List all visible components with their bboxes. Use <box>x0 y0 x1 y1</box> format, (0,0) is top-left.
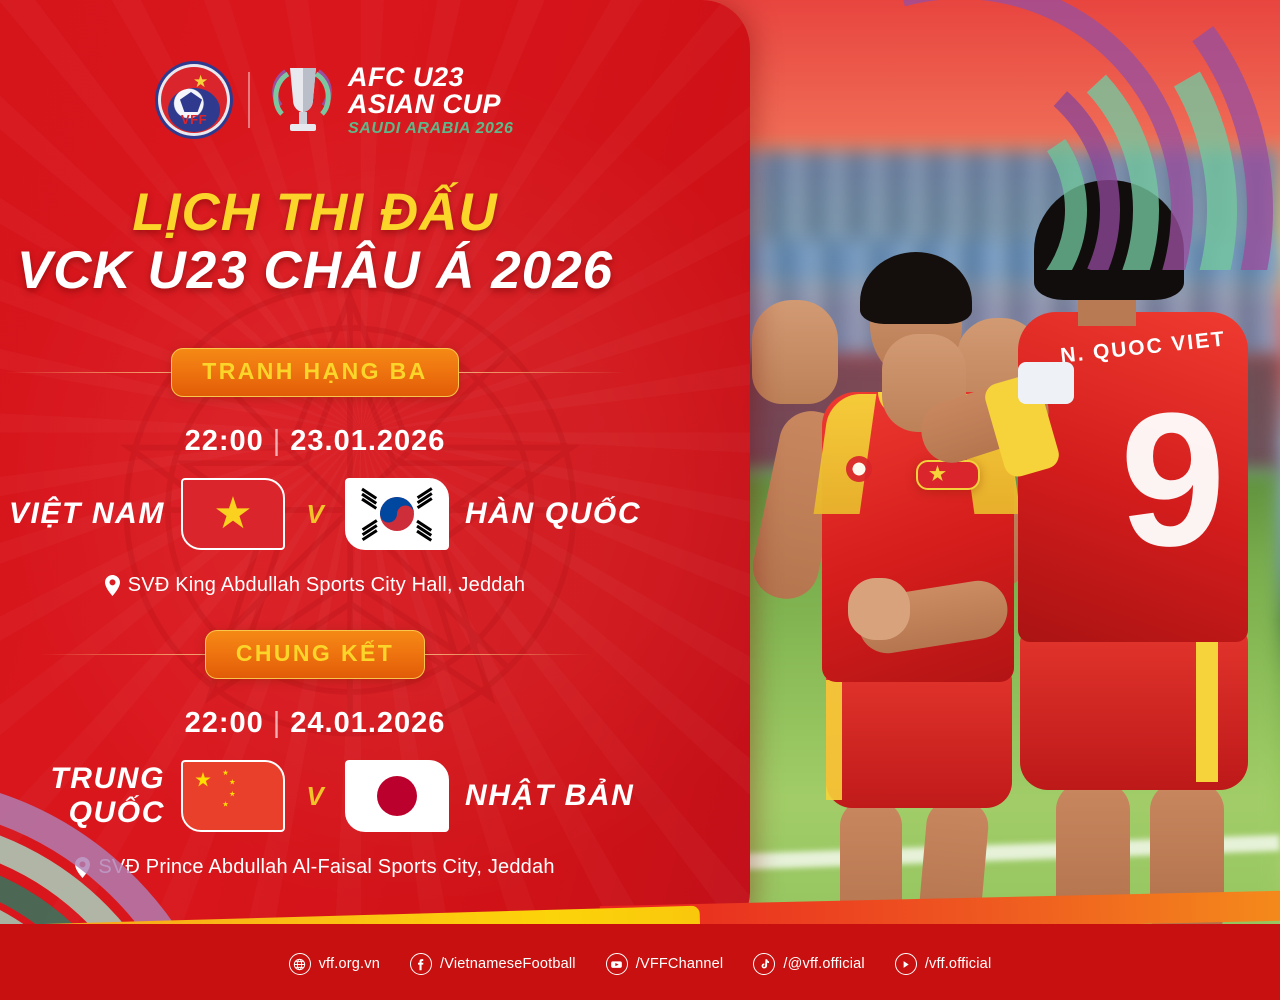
tiktok-icon <box>753 953 775 975</box>
footer-item-tiktok[interactable]: /@vff.official <box>753 953 864 975</box>
footer-item-youtube[interactable]: /VFFChannel <box>606 953 724 975</box>
venue-text: SVĐ Prince Abdullah Al-Faisal Sports Cit… <box>98 856 554 879</box>
match-block-third-place: TRANH HẠNG BA 22:00|23.01.2026 VIỆT NAM … <box>0 348 690 597</box>
match-date: 23.01.2026 <box>290 425 445 457</box>
away-team-name: NHẬT BẢN <box>449 779 659 813</box>
badge-line-right <box>425 654 590 655</box>
home-team-name: VIỆT NAM <box>0 497 181 531</box>
footer-item-facebook[interactable]: /VietnameseFootball <box>410 953 576 975</box>
japan-flag <box>345 760 449 832</box>
china-flag <box>181 760 285 832</box>
globe-icon <box>289 953 311 975</box>
youtube-icon <box>606 953 628 975</box>
match-photo: AY 9 N. QUOC VIET <box>700 0 1280 940</box>
page-title-line2: VCK U23 CHÂU Á 2026 <box>0 240 690 301</box>
page-title-line1: LỊCH THI ĐẤU <box>0 182 690 243</box>
match-datetime: 22:00|23.01.2026 <box>0 425 690 458</box>
match-venue: SVĐ King Abdullah Sports City Hall, Jedd… <box>0 574 690 597</box>
match-time: 22:00 <box>185 707 264 739</box>
footer-label-website: vff.org.vn <box>319 956 380 972</box>
social-footer: vff.org.vn /VietnameseFootball /VFFChann… <box>0 924 1280 1000</box>
badge-line-right <box>459 372 624 373</box>
afc-title-line1: AFC U23 <box>348 64 514 91</box>
match-teams-row: TRUNG QUỐC V NHẬT BẢN <box>0 760 690 832</box>
datetime-separator: | <box>273 707 282 739</box>
afc-trophy-icon <box>268 62 338 138</box>
datetime-separator: | <box>273 425 282 457</box>
info-panel: ★ VFF AFC U23 <box>0 0 750 940</box>
poster-root: AY 9 N. QUOC VIET <box>0 0 1280 1000</box>
badge-line-left <box>40 654 205 655</box>
footer-item-website[interactable]: vff.org.vn <box>289 953 380 975</box>
facebook-icon <box>410 953 432 975</box>
versus-label: V <box>285 499 345 530</box>
footer-item-play[interactable]: /vff.official <box>895 953 992 975</box>
home-team-name: TRUNG QUỐC <box>0 762 181 830</box>
vff-logo-text: VFF <box>161 112 227 127</box>
play-icon <box>895 953 917 975</box>
badge-line-left <box>6 372 171 373</box>
venue-text: SVĐ King Abdullah Sports City Hall, Jedd… <box>128 574 526 597</box>
location-pin-icon <box>105 575 120 596</box>
match-time: 22:00 <box>185 425 264 457</box>
player-shirt-number: 9 <box>1120 390 1226 570</box>
vietnam-flag: ★ <box>181 478 285 550</box>
footer-label-tiktok: /@vff.official <box>783 956 864 972</box>
badge-row: CHUNG KẾT <box>0 630 690 679</box>
afc-title-line2: ASIAN CUP <box>348 91 514 118</box>
match-date: 24.01.2026 <box>290 707 445 739</box>
vff-crest-icon: ★ VFF <box>158 64 230 136</box>
match-block-final: CHUNG KẾT 22:00|24.01.2026 TRUNG QUỐC <box>0 630 690 879</box>
logo-group: ★ VFF AFC U23 <box>158 62 514 138</box>
badge-row: TRANH HẠNG BA <box>0 348 690 397</box>
away-team-name: HÀN QUỐC <box>449 497 659 531</box>
match-datetime: 22:00|24.01.2026 <box>0 707 690 740</box>
match-stage-badge: CHUNG KẾT <box>205 630 425 679</box>
player-back: 9 N. QUOC VIET <box>1000 90 1280 940</box>
footer-label-play: /vff.official <box>925 956 992 972</box>
logo-divider <box>248 72 250 128</box>
south-korea-flag <box>345 478 449 550</box>
match-teams-row: VIỆT NAM ★ V HÀN QUỐC <box>0 478 690 550</box>
versus-label: V <box>285 781 345 812</box>
afc-title-line3: SAUDI ARABIA 2026 <box>348 121 514 137</box>
match-stage-badge: TRANH HẠNG BA <box>171 348 458 397</box>
location-pin-icon <box>75 857 90 878</box>
footer-label-facebook: /VietnameseFootball <box>440 956 576 972</box>
footer-label-youtube: /VFFChannel <box>636 956 724 972</box>
match-venue: SVĐ Prince Abdullah Al-Faisal Sports Cit… <box>0 856 690 879</box>
